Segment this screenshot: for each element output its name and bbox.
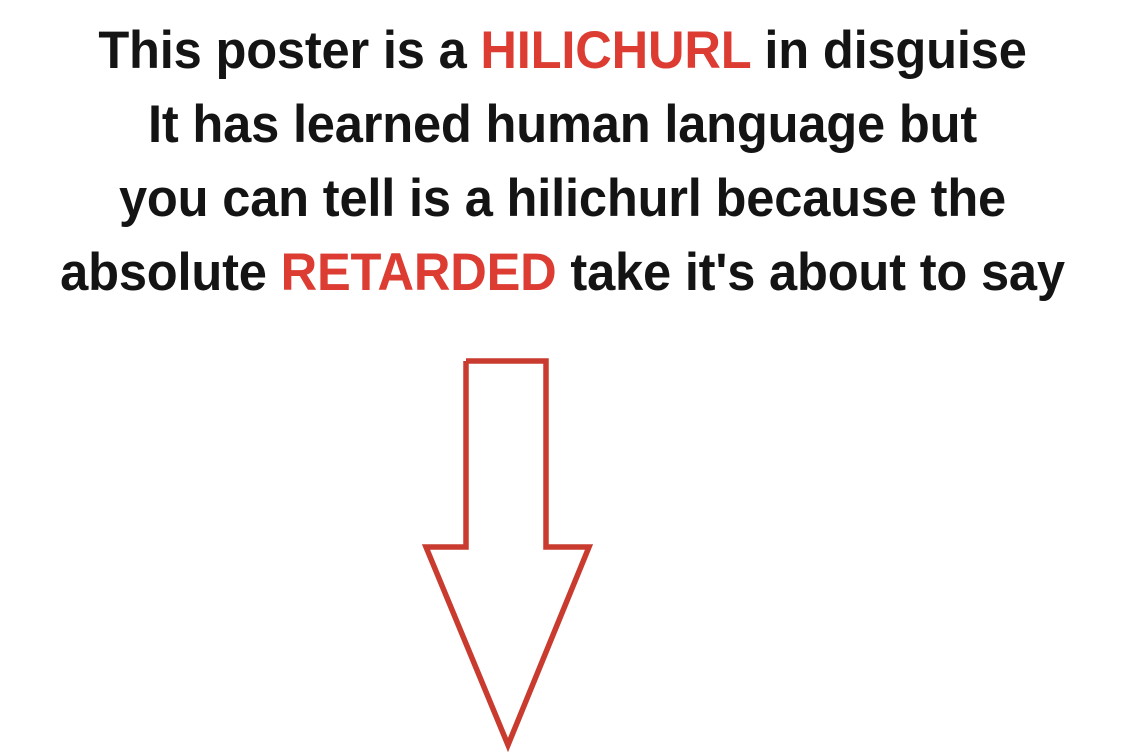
caption-line-1-highlight-hilichurl: HILICHURL xyxy=(480,21,750,80)
caption-line-2-segment-1: It has learned human language but xyxy=(148,95,977,154)
caption-line-2: It has learned human language but xyxy=(25,88,1099,162)
caption-text-block: This poster is a HILICHURL in disguise I… xyxy=(0,14,1125,310)
caption-line-4-segment-1: absolute xyxy=(60,243,280,302)
arrow-down-outline-path xyxy=(426,361,589,745)
caption-line-1: This poster is a HILICHURL in disguise xyxy=(25,14,1099,88)
caption-line-3: you can tell is a hilichurl because the xyxy=(25,162,1099,236)
caption-line-4: absolute RETARDED take it's about to say xyxy=(25,236,1099,310)
caption-line-1-segment-1: This poster is a xyxy=(98,21,480,80)
meme-canvas: This poster is a HILICHURL in disguise I… xyxy=(0,0,1125,753)
caption-line-1-segment-3: in disguise xyxy=(751,21,1027,80)
caption-line-4-segment-3: take it's about to say xyxy=(557,243,1065,302)
caption-line-4-highlight-retarded: RETARDED xyxy=(281,243,557,302)
caption-line-3-segment-1: you can tell is a hilichurl because the xyxy=(119,169,1006,228)
